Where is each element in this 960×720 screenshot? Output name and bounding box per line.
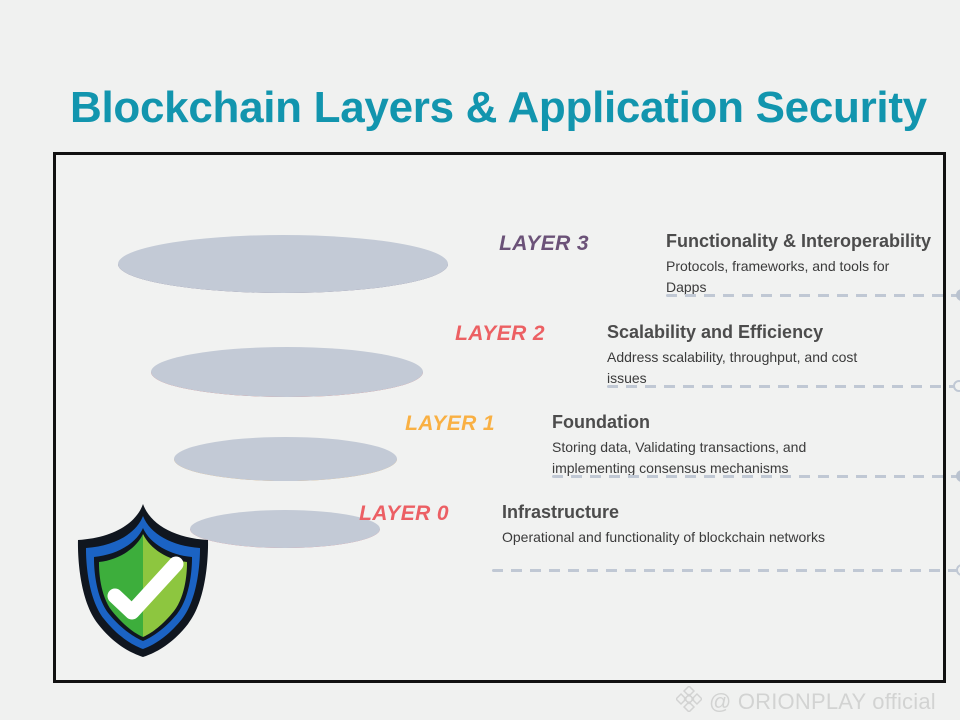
- layer-0-description: Operational and functionality of blockch…: [502, 527, 932, 548]
- slide-canvas: Blockchain Layers & Application Security: [0, 0, 960, 720]
- binance-diamond-icon: [676, 686, 702, 717]
- layer-0-heading: Infrastructure: [502, 502, 619, 523]
- layer-0-tag: LAYER 0: [320, 502, 449, 526]
- watermark-text: @ ORIONPLAY official: [709, 689, 936, 715]
- page-title: Blockchain Layers & Application Security: [70, 80, 930, 136]
- shield-check-icon: [68, 500, 218, 660]
- layer-3-connector-knob: [956, 289, 960, 301]
- layer-0-connector-knob: [956, 564, 960, 576]
- layer-0-connector: [492, 564, 960, 576]
- layer-2-connector-knob: [953, 380, 960, 392]
- layer-0-connector-line: [492, 569, 958, 572]
- layer-1-connector-knob: [956, 470, 960, 482]
- watermark: @ ORIONPLAY official: [676, 686, 936, 717]
